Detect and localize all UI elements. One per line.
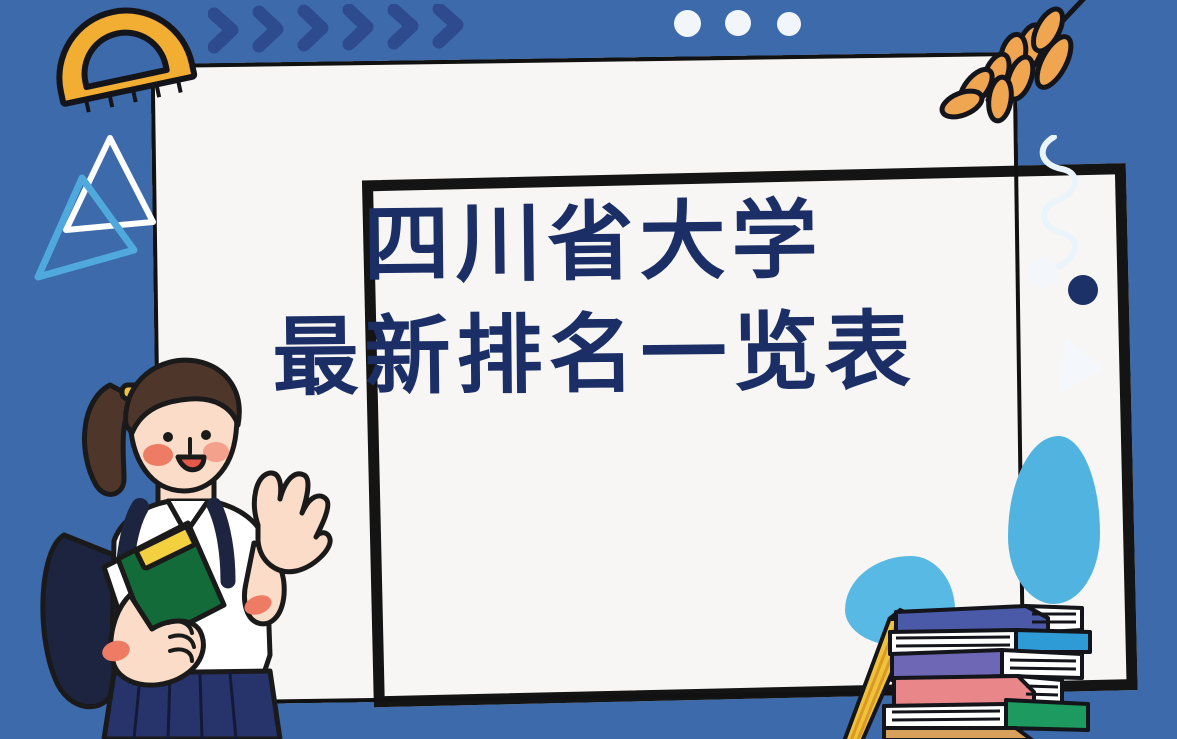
- white-squiggle-icon: [1030, 135, 1090, 270]
- stacked-books-icon: [876, 588, 1106, 739]
- triangle-outlines-group: [30, 130, 170, 295]
- white-dot-2: [725, 10, 751, 36]
- white-dot-3: [777, 12, 801, 36]
- navy-circle-decoration: [1068, 275, 1098, 305]
- title-line-2: 最新排名一览表: [212, 308, 977, 402]
- white-circle-decoration: [1028, 258, 1058, 288]
- poster-canvas: 四川省大学 最新排名一览表: [0, 0, 1177, 739]
- student-girl-svg: [18, 355, 358, 739]
- white-play-triangle-icon: [1060, 337, 1106, 397]
- squiggle-svg: [1030, 135, 1090, 275]
- books-svg: [876, 588, 1108, 739]
- chevron-arrows-icon: [208, 4, 508, 56]
- title-line-1: 四川省大学: [211, 196, 976, 290]
- chevron-arrows-group: [208, 4, 508, 56]
- triangle-outlines-icon: [30, 130, 170, 295]
- student-girl-illustration: [18, 355, 358, 739]
- white-dot-1: [674, 10, 701, 37]
- page-title: 四川省大学 最新排名一览表: [211, 196, 977, 402]
